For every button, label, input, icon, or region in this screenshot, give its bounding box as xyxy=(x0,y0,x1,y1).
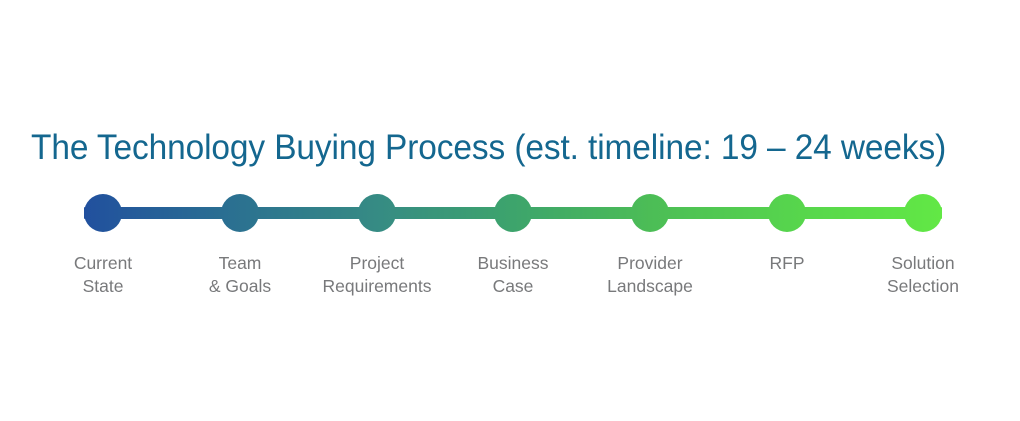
timeline-node-5[interactable] xyxy=(631,194,669,232)
timeline-node-4[interactable] xyxy=(494,194,532,232)
timeline-node-3[interactable] xyxy=(358,194,396,232)
page-title: The Technology Buying Process (est. time… xyxy=(31,128,946,168)
step-label-solution-selection: Solution Selection xyxy=(833,252,1013,298)
timeline-node-7[interactable] xyxy=(904,194,942,232)
timeline-node-1[interactable] xyxy=(84,194,122,232)
timeline-node-6[interactable] xyxy=(768,194,806,232)
timeline-graphic xyxy=(0,186,1020,240)
timeline-node-2[interactable] xyxy=(221,194,259,232)
process-timeline xyxy=(0,186,1020,240)
timeline-labels: Current State Team & Goals Project Requi… xyxy=(0,252,1020,312)
technology-buying-process-infographic: The Technology Buying Process (est. time… xyxy=(0,0,1020,421)
